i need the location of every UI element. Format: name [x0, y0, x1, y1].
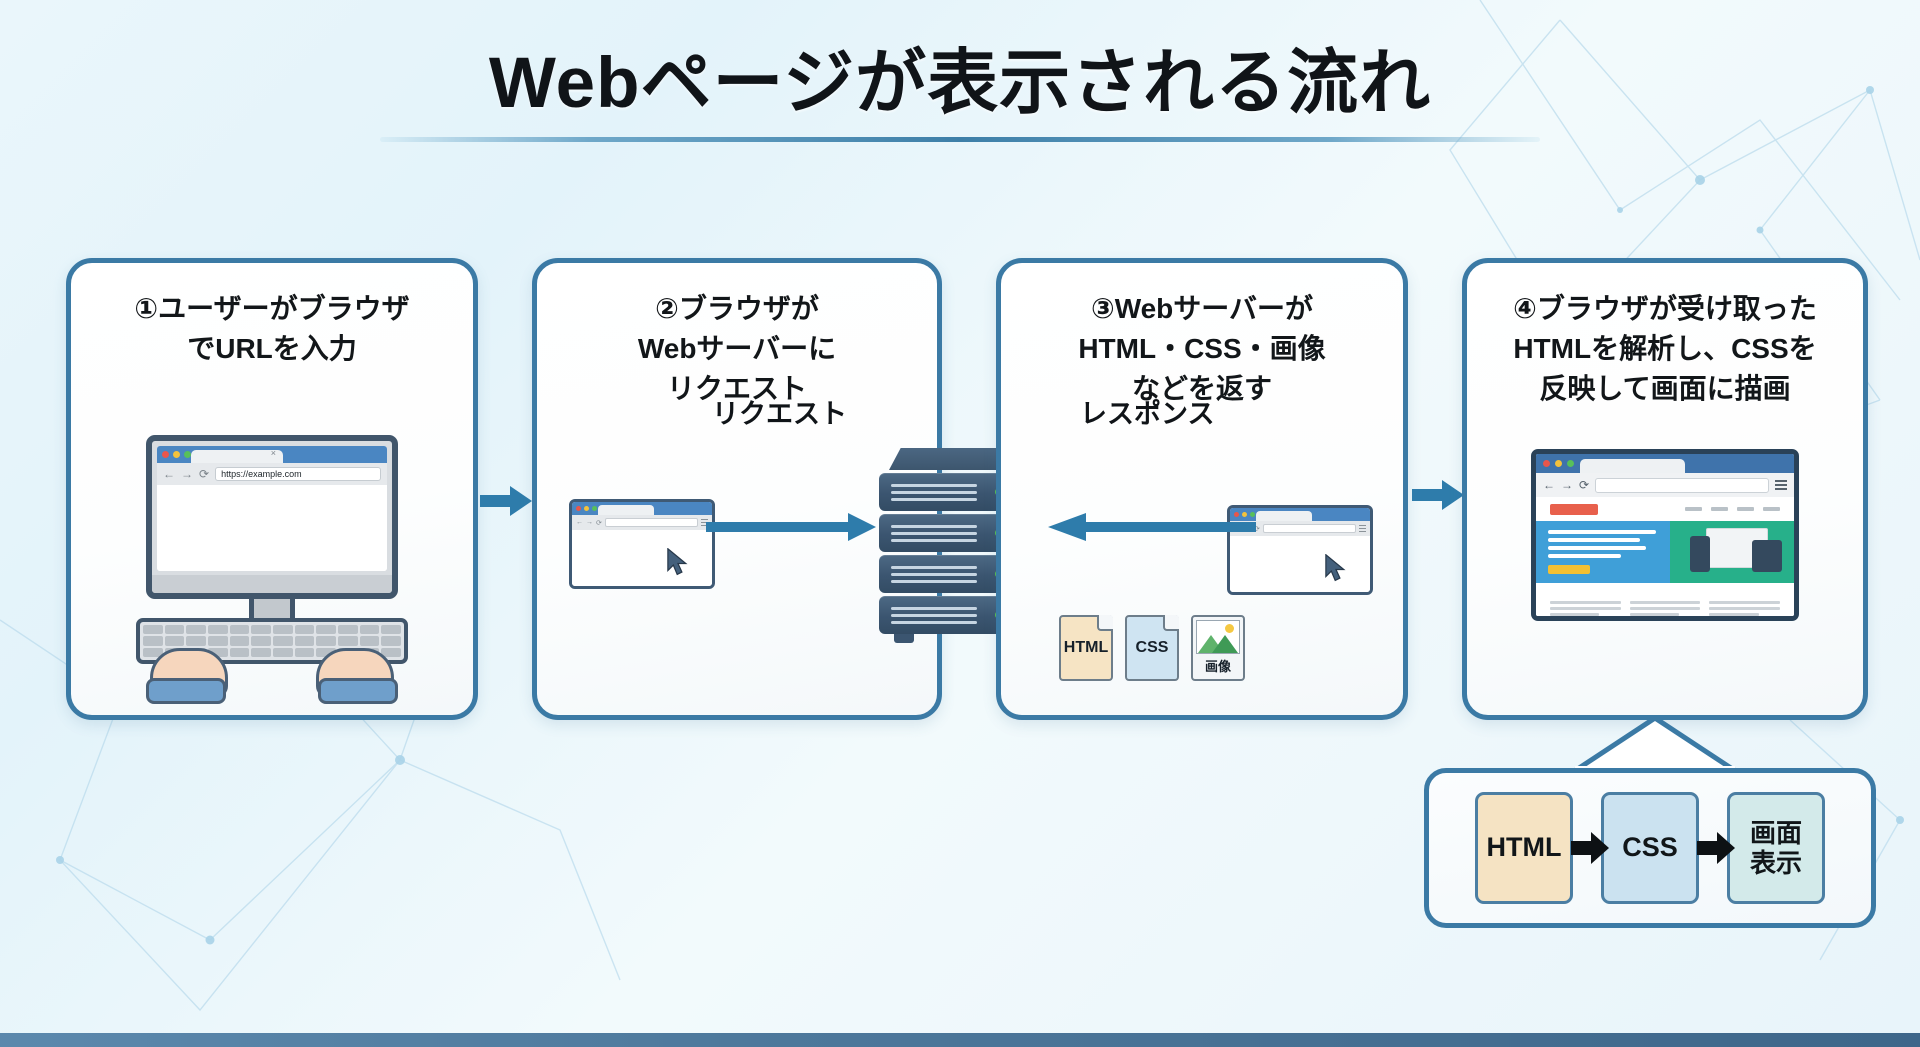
css-chip: CSS: [1601, 792, 1699, 904]
hero-cta-button: [1548, 565, 1590, 574]
page-fold: [1097, 615, 1113, 631]
html-file-icon: HTML: [1059, 615, 1113, 681]
step-card-2-heading: ②ブラウザが Webサーバーに リクエスト: [537, 289, 937, 408]
step-card-3: ③Webサーバーが HTML・CSS・画像 などを返す ← → ⟳ HTML: [996, 258, 1408, 720]
close-dot-icon: [576, 506, 581, 511]
hands-icon: [122, 648, 422, 700]
page-title: Webページが表示される流れ: [0, 46, 1920, 123]
forward-arrow-icon: →: [181, 468, 193, 480]
back-arrow-icon: ←: [163, 468, 175, 480]
arrow-card1-to-card2: [480, 484, 534, 518]
sun-icon: [1225, 624, 1234, 633]
html-file-label: HTML: [1064, 639, 1108, 657]
browser-toolbar: ← → ⟳: [1536, 473, 1794, 497]
back-arrow-icon: ←: [576, 519, 583, 526]
request-label: リクエスト: [712, 392, 847, 431]
monitor-screen: ← → ⟳ https://example.com: [146, 435, 398, 599]
browser-titlebar: [1536, 454, 1794, 473]
minimize-dot-icon: [584, 506, 589, 511]
server-slots: [891, 484, 977, 501]
devices-illustration: [1690, 526, 1782, 578]
server-slots: [891, 525, 977, 542]
forward-arrow-icon: →: [1561, 478, 1573, 492]
server-slots: [891, 566, 977, 583]
arrow-request: [706, 512, 878, 542]
nav-menu: [1685, 507, 1780, 511]
file-icons-group: HTML CSS 画像: [1059, 615, 1245, 681]
back-arrow-icon: ←: [1543, 478, 1555, 492]
hero-section: [1536, 521, 1794, 583]
monitor-chin: [152, 575, 392, 593]
content-card: [1630, 595, 1701, 616]
maximize-dot-icon: [592, 506, 597, 511]
page-content: [1536, 497, 1794, 616]
minimize-dot-icon: [173, 451, 180, 458]
browser-titlebar: [157, 446, 387, 463]
browser-tab: [191, 450, 283, 463]
browser-viewport: [572, 530, 712, 586]
url-bar: [1263, 524, 1356, 533]
reload-icon: ⟳: [199, 468, 209, 480]
content-card: [1709, 595, 1780, 616]
tablet-icon: [1752, 540, 1782, 572]
left-sleeve: [146, 678, 226, 704]
minimize-dot-icon: [1555, 460, 1562, 467]
step-card-4: ④ブラウザが受け取った HTMLを解析し、CSSを 反映して画面に描画 ← → …: [1462, 258, 1868, 720]
hero-text-lines: [1548, 530, 1680, 574]
page-navbar: [1536, 497, 1794, 521]
browser-tab: [598, 505, 654, 515]
image-file-label: 画像: [1205, 656, 1231, 675]
site-logo: [1550, 504, 1598, 515]
step-card-3-heading: ③Webサーバーが HTML・CSS・画像 などを返す: [1001, 289, 1403, 408]
html-chip: HTML: [1475, 792, 1573, 904]
arrow-card3-to-card4: [1412, 478, 1466, 512]
browser-mockup: ← → ⟳ https://example.com: [157, 446, 387, 571]
image-file-icon: 画像: [1191, 615, 1245, 681]
server-slots: [891, 607, 977, 624]
menu-icon: [1359, 525, 1366, 532]
browser-viewport: [1230, 536, 1370, 592]
image-thumbnail: [1196, 620, 1240, 654]
content-card: [1550, 595, 1621, 616]
reload-icon: ⟳: [1579, 478, 1589, 492]
title-block: Webページが表示される流れ: [0, 46, 1920, 142]
browser-toolbar: ← → ⟳: [572, 515, 712, 530]
browser-toolbar: ← → ⟳ https://example.com: [157, 463, 387, 485]
phone-icon: [1690, 536, 1710, 572]
right-sleeve: [318, 678, 398, 704]
step-card-4-heading: ④ブラウザが受け取った HTMLを解析し、CSSを 反映して画面に描画: [1467, 289, 1863, 408]
rendered-page-icon: ← → ⟳: [1531, 449, 1799, 621]
browser-titlebar: [572, 502, 712, 515]
display-chip: 画面 表示: [1727, 792, 1825, 904]
url-bar: [1595, 478, 1769, 493]
maximize-dot-icon: [1567, 460, 1574, 467]
bottom-accent-bar: [0, 1033, 1920, 1047]
close-dot-icon: [162, 451, 169, 458]
url-bar: [605, 518, 698, 527]
content-cards: [1536, 583, 1794, 616]
browser-window-icon: ← → ⟳: [569, 499, 715, 589]
connector-card4-to-flow: [1570, 718, 1740, 774]
step-card-1-heading: ①ユーザーがブラウザ でURLを入力: [71, 289, 473, 369]
css-file-label: CSS: [1136, 639, 1169, 657]
response-label: レスポンス: [1080, 392, 1214, 431]
keyboard-and-hands: [122, 618, 422, 700]
close-dot-icon: [1543, 460, 1550, 467]
reload-icon: ⟳: [596, 519, 602, 527]
cursor-icon: [1324, 554, 1348, 582]
hamburger-menu-icon: [1775, 480, 1787, 490]
step-card-1: ①ユーザーがブラウザ でURLを入力 ← → ⟳ https://example…: [66, 258, 478, 720]
arrow-response: [1046, 512, 1256, 542]
page-fold: [1163, 615, 1179, 631]
mountain-icon: [1212, 635, 1238, 653]
browser-tab: [1580, 459, 1685, 473]
monitor-icon: ← → ⟳ https://example.com: [132, 435, 412, 636]
render-flow-box: HTML CSS 画面 表示: [1424, 768, 1876, 928]
browser-viewport: [157, 485, 387, 571]
cursor-icon: [666, 548, 690, 576]
forward-arrow-icon: →: [586, 519, 593, 526]
maximize-dot-icon: [184, 451, 191, 458]
title-underline: [380, 137, 1540, 142]
browser-tab: [1256, 511, 1312, 521]
css-file-icon: CSS: [1125, 615, 1179, 681]
url-bar: https://example.com: [215, 467, 381, 481]
